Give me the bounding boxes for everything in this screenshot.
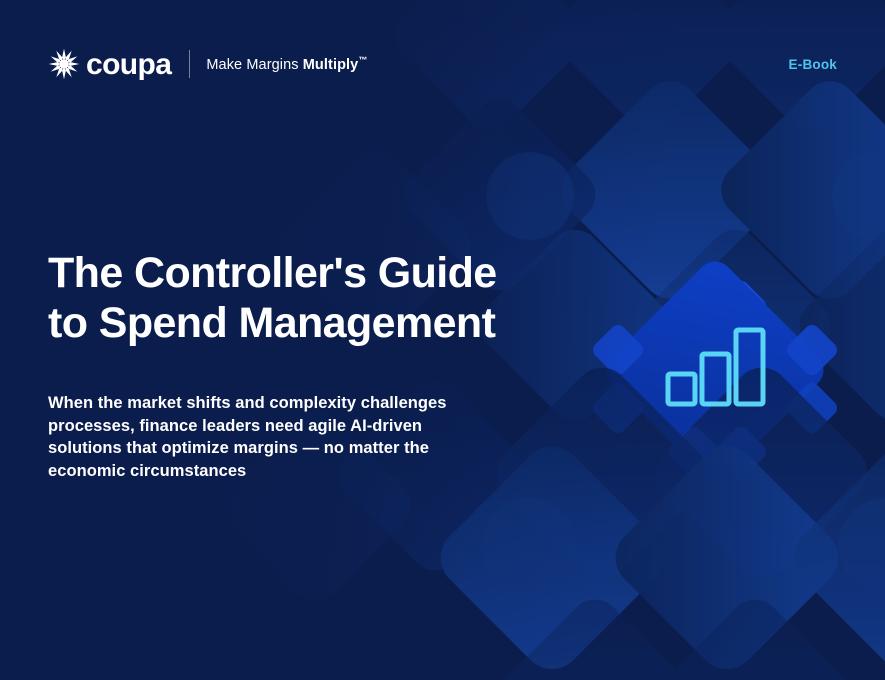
ebook-cover: coupa Make Margins Multiply™ E-Book The … [0,0,885,680]
page-title: The Controller's Guide to Spend Manageme… [48,248,568,348]
hero-section: The Controller's Guide to Spend Manageme… [48,248,568,482]
tagline-bold-text: Multiply [303,57,359,73]
brand-lockup: coupa Make Margins Multiply™ [48,48,367,80]
trademark-symbol: ™ [358,55,367,65]
chart-bar-3 [736,330,763,404]
chart-bar-2 [702,354,729,404]
brand-divider [189,50,190,78]
hero-subtitle: When the market shifts and complexity ch… [48,392,468,482]
chart-bar-1 [668,374,695,404]
brand-tagline: Make Margins Multiply™ [206,56,367,72]
coupa-wordmark: coupa [86,50,171,80]
cover-header: coupa Make Margins Multiply™ E-Book [0,0,885,128]
document-type-label: E-Book [789,57,837,72]
coupa-logo[interactable]: coupa [48,48,171,80]
tagline-regular-text: Make Margins [206,57,302,73]
coupa-starburst-logo-icon [48,48,80,80]
